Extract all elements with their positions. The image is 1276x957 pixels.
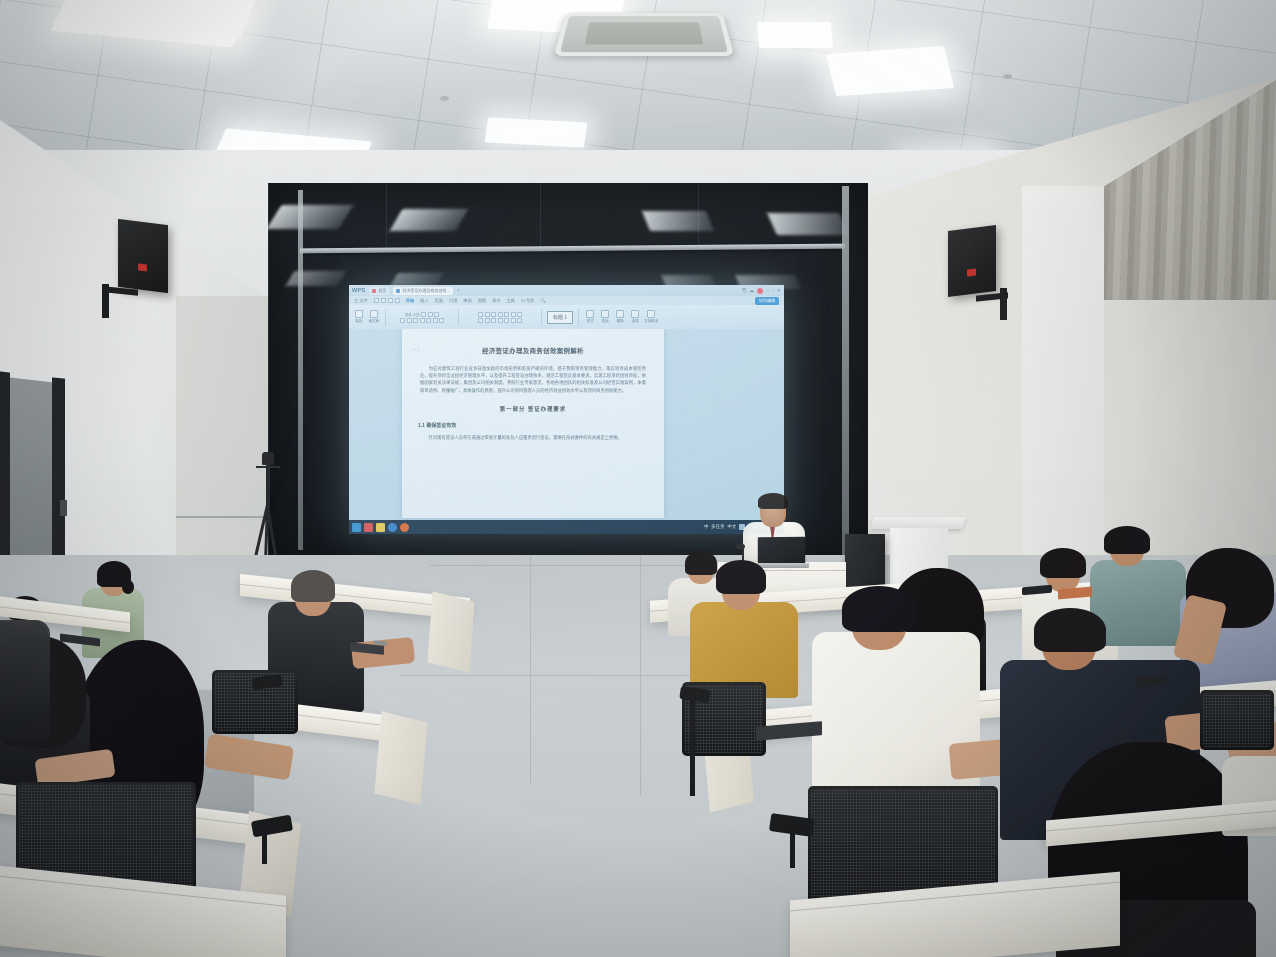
highlight-icon[interactable] [433,318,438,323]
ribbon-assistant-label: 文档助手 [644,319,658,324]
document-canvas[interactable]: 一 1 经济签证办理及商务创效案例解析 为应对建筑工程行业竞争日趋加剧的市场形势… [349,329,784,534]
cloud-icon[interactable]: ☁ [749,288,754,294]
desk-left-row2-side [374,711,427,805]
document-assistant-icon[interactable] [647,310,655,318]
microphone-icon [736,544,745,549]
menu-item-page[interactable]: 页面 [435,298,443,304]
attendee-hair [716,560,766,594]
floor-seam [400,675,740,676]
backdrop-seam [540,183,541,251]
backdrop-right-edge-strip [842,186,849,558]
ribbon-select-group[interactable]: 选择 [629,310,641,324]
ribbon-paste-group[interactable]: 粘贴 [353,310,365,324]
sort-icon[interactable] [517,312,522,317]
undo-icon[interactable] [381,298,386,303]
menu-item-file[interactable]: 三 文件 [354,298,368,304]
save-icon[interactable] [374,298,379,303]
numbered-list-icon[interactable] [485,312,490,317]
justify-icon[interactable] [498,318,503,323]
ribbon-paste-label: 粘贴 [355,319,362,324]
tray-ime-label[interactable]: 中 [704,524,709,530]
window-controls: ⎘ ☁ – ▫ ✕ [742,288,781,294]
print-icon[interactable] [395,298,400,303]
font-size-up-icon[interactable] [421,312,426,317]
smoke-detector-icon [440,96,449,101]
chair-post [262,828,267,864]
ribbon-divider [385,309,386,326]
tab-document[interactable]: 经济签证办理及商务创效... [393,287,452,295]
chair-post [790,828,795,868]
document-heading-3: 1.1 确保签证有效 [418,422,664,429]
mail-icon[interactable] [376,523,385,532]
menu-item-ai-writing[interactable]: AI 写作 [521,298,535,304]
floor-seam [640,555,641,795]
style-selector[interactable]: 标题 1 [547,311,573,324]
document-paragraph-2: 针对现有签证人员单方或通过审查计量的发包人应履责后行签证，需要在形式要件的有关规… [420,434,646,441]
font-name-row[interactable]: 宋体 小四 [405,312,439,317]
styles-icon[interactable] [586,310,594,318]
font-name-label: 宋体 小四 [405,312,420,317]
attendee-hair [842,586,916,632]
find-icon[interactable] [601,310,609,318]
page-marker: 一 1 [412,347,419,353]
conference-room-photo: WPS 首页 经济签证办理及商务创效... + ⎘ ☁ – ▫ ✕ [0,0,1276,957]
camera-tripod-column [266,462,270,508]
windows-taskbar[interactable]: 中 多任务 中文 [349,520,784,534]
document-heading-2: 第一部分 签证办理要求 [402,405,664,413]
backdrop-reflection [267,205,354,229]
menu-item-tools[interactable]: 工具 [506,298,514,304]
smoke-detector-icon [1003,74,1012,79]
chair-mesh-pattern [1203,693,1271,747]
right-pillar [1022,186,1104,586]
distribute-icon[interactable] [504,318,509,323]
clear-format-icon[interactable] [434,312,439,317]
home-tab-icon [372,289,376,293]
left-wall-speaker [118,219,168,293]
ribbon-divider [541,309,542,326]
share-icon[interactable]: ⎘ [742,288,746,294]
bullet-list-icon[interactable] [478,312,483,317]
presenter-hair [758,493,788,509]
presenter-laptop-screen [758,537,805,566]
speaker-brand-logo [138,263,147,271]
ribbon-styles-group[interactable]: 样式 [584,310,596,324]
paste-icon[interactable] [355,310,363,318]
decrease-indent-icon[interactable] [498,312,503,317]
redo-icon[interactable] [388,298,393,303]
door-hinge-icon [60,500,67,516]
account-avatar[interactable] [757,288,763,294]
tray-text-1[interactable]: 多任务 [711,524,725,530]
chair-post [690,700,695,796]
align-center-icon[interactable] [485,318,490,323]
left-speaker-bracket-post [102,284,109,318]
select-icon[interactable] [631,310,639,318]
maximize-icon[interactable]: ▫ [772,288,774,294]
document-page[interactable]: 一 1 经济签证办理及商务创效案例解析 为应对建筑工程行业竞争日趋加剧的市场形势… [402,329,664,518]
ribbon-styles-label: 样式 [587,319,594,324]
ribbon-divider [458,309,459,326]
increase-indent-icon[interactable] [504,312,509,317]
multilevel-list-icon[interactable] [491,312,496,317]
align-right-icon[interactable] [491,318,496,323]
backdrop-reflection [642,211,714,231]
underline-icon[interactable] [413,318,418,323]
wps-menu-bar: 三 文件 开始 插入 页面 引用 审阅 视图 章节 工具 AI 写作 🔍 协 [349,296,784,305]
format-painter-icon[interactable] [370,310,378,318]
ceiling-air-conditioner-vent [554,13,735,56]
wps-title-bar: WPS 首页 经济签证办理及商务创效... + ⎘ ☁ – ▫ ✕ [349,285,784,296]
italic-icon[interactable] [407,318,412,323]
close-icon[interactable]: ✕ [777,288,781,294]
menu-item-insert[interactable]: 插入 [420,298,428,304]
backdrop-reflection [767,213,849,235]
text-color-icon[interactable] [426,318,431,323]
font-size-down-icon[interactable] [428,312,433,317]
wps-logo: WPS [352,288,365,294]
backdrop-seam [386,183,387,251]
ribbon-paragraph-group[interactable] [464,312,536,323]
line-spacing-icon[interactable] [511,312,516,317]
tab-document-label: 经济签证办理及商务创效... [402,288,449,294]
ribbon-font-group[interactable]: 宋体 小四 [391,312,453,323]
list-row[interactable] [478,312,522,317]
document-title: 经济签证办理及商务创效案例解析 [402,346,664,355]
backdrop-reflection [390,209,469,231]
font-style-row[interactable] [400,318,444,323]
desk-left-row1-side [427,591,474,672]
attendee-hair [685,551,717,575]
tray-text-2[interactable]: 中文 [727,524,736,530]
superscript-icon[interactable] [439,318,444,323]
ribbon-replace-group[interactable]: 替换 [614,310,626,324]
menu-item-review[interactable]: 审阅 [463,298,471,304]
ribbon-divider [578,309,579,326]
floor-seam [530,555,531,785]
menu-right-group: 协作编辑 [755,297,779,305]
wps-office-window[interactable]: WPS 首页 经济签证办理及商务创效... + ⎘ ☁ – ▫ ✕ [349,285,784,534]
align-left-icon[interactable] [478,318,483,323]
projection-screen: WPS 首页 经济签证办理及商务创效... + ⎘ ☁ – ▫ ✕ [349,285,784,534]
tab-home[interactable]: 首页 [369,287,389,295]
presenter-glasses [761,508,784,512]
search-icon[interactable]: 🔍 [540,298,546,304]
tab-home-label: 首页 [378,288,386,294]
ceiling-light-panel [826,46,954,96]
ribbon-replace-label: 替换 [617,319,624,324]
replace-icon[interactable] [616,310,624,318]
shading-icon[interactable] [511,318,516,323]
backdrop-left-edge-strip [298,190,303,550]
ribbon-formatpainter-label: 格式刷 [369,319,380,324]
bold-icon[interactable] [400,318,405,323]
attendee-hair [291,570,335,602]
ceiling-light-panel [485,117,588,147]
menu-item-start[interactable]: 开始 [406,298,414,304]
collaborate-button[interactable]: 协作编辑 [755,297,779,305]
align-row[interactable] [478,318,522,323]
document-paragraph-1: 为应对建筑工程行业竞争日趋加剧的市场形势和愈发严峻的环境，基于我院项目管理能力，… [420,365,646,394]
new-tab-button[interactable]: + [457,288,460,294]
speaker-brand-logo [967,269,976,277]
right-wall-speaker [948,225,996,297]
media-icon[interactable] [400,523,409,532]
chair-right-far[interactable] [1200,690,1274,750]
attendee-hair-bun [122,580,134,594]
attendee-hair [1034,608,1106,652]
menu-item-reference[interactable]: 引用 [449,298,457,304]
wps-ribbon: 粘贴 格式刷 宋体 小四 [349,305,784,329]
attendee-hair [1040,548,1086,578]
attendee-body [0,620,50,740]
backdrop-reflection [286,271,347,286]
menu-item-section[interactable]: 章节 [492,298,500,304]
strikethrough-icon[interactable] [420,318,425,323]
ribbon-formatpainter-group[interactable]: 格式刷 [368,310,380,324]
attendee-hair [1104,526,1150,554]
ribbon-find-label: 查找 [602,319,609,324]
ribbon-find-group[interactable]: 查找 [599,310,611,324]
floor-seam [430,565,710,566]
document-tab-icon [396,289,400,293]
windows-start-icon[interactable] [352,523,361,532]
right-speaker-bracket-post [1000,288,1007,320]
menu-item-view[interactable]: 视图 [478,298,486,304]
ribbon-select-label: 选择 [632,319,639,324]
borders-icon[interactable] [517,318,522,323]
settings-icon[interactable] [388,523,397,532]
ribbon-assistant-group[interactable]: 文档助手 [644,310,658,324]
minimize-icon[interactable]: – [766,288,769,294]
ceiling-light-panel [757,22,833,48]
browser-icon[interactable] [364,523,373,532]
